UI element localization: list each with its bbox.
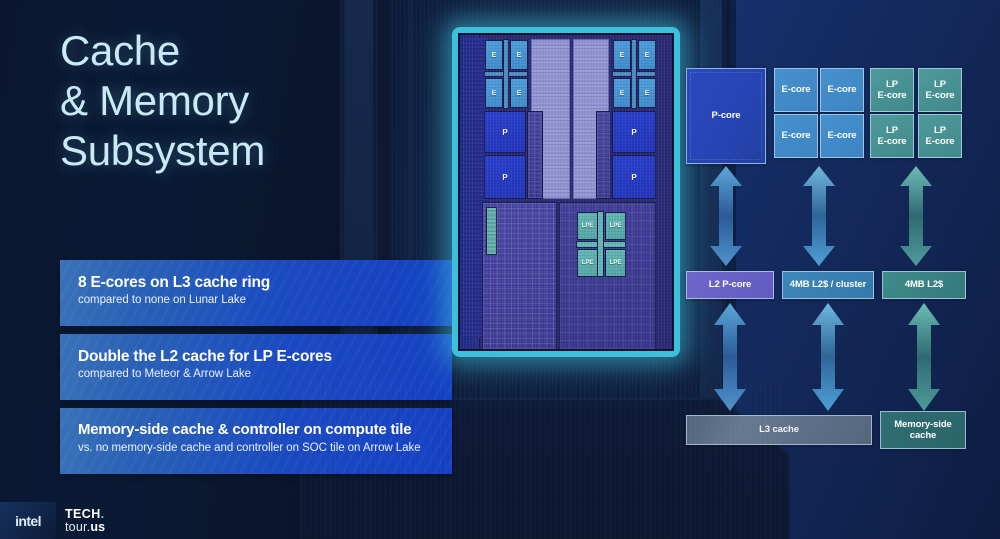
die-e-label: E <box>492 52 497 59</box>
block-lp-e-core-label-2: E-core <box>926 90 955 101</box>
double-headed-arrow-l2-lp-memory-side <box>906 303 942 411</box>
die-e-core[interactable]: E <box>638 40 656 70</box>
block-l2-lp-e-core-label: 4MB L2$ <box>905 279 943 290</box>
die-shot-image: E E E E E E E E P P P P LPE LPE LPE LPE <box>458 33 674 351</box>
block-lp-e-core-label-2: E-core <box>878 90 907 101</box>
double-headed-arrow-p-core-l2 <box>708 166 744 266</box>
block-l2-p-core-label: L2 P-core <box>709 279 751 290</box>
block-e-core-label: E-core <box>782 130 811 141</box>
die-e-core[interactable]: E <box>485 78 503 108</box>
block-lp-e-core-label-1: LP <box>934 125 946 136</box>
die-e-core[interactable]: E <box>638 78 656 108</box>
die-e-label: E <box>645 52 650 59</box>
die-lpe-label: LPE <box>610 223 622 229</box>
block-lp-e-core[interactable]: LP E-core <box>918 68 962 112</box>
double-headed-arrow-e-core-l2 <box>801 166 837 266</box>
brand-logo: intel TECH. tour.us <box>0 502 120 539</box>
title-line-2: & Memory <box>60 76 390 126</box>
die-lpe-label: LPE <box>582 260 594 266</box>
die-p-label: P <box>631 173 636 182</box>
block-e-core[interactable]: E-core <box>820 114 864 158</box>
block-lp-e-core-label-1: LP <box>886 125 898 136</box>
bullet-sub-2: compared to Meteor & Arrow Lake <box>78 368 452 380</box>
tour-text: tour. <box>65 520 90 534</box>
die-e-core[interactable]: E <box>613 40 631 70</box>
intel-logo-text: intel <box>15 513 41 529</box>
intel-logo: intel <box>0 502 56 539</box>
die-p-label: P <box>631 128 636 137</box>
block-lp-e-core[interactable]: LP E-core <box>870 114 914 158</box>
die-lpe-crossbar-v <box>597 211 604 277</box>
die-lpe-core[interactable]: LPE <box>577 212 598 240</box>
die-lpe-core[interactable]: LPE <box>605 212 626 240</box>
die-p-label: P <box>502 173 507 182</box>
block-l2-p-core[interactable]: L2 P-core <box>686 271 774 299</box>
chip-package-texture <box>305 380 785 539</box>
block-lp-e-core-label-1: LP <box>934 79 946 90</box>
block-memory-side-cache-label-2: cache <box>910 430 936 441</box>
block-e-core-label: E-core <box>828 84 857 95</box>
die-e-label: E <box>517 90 522 97</box>
block-p-core-label: P-core <box>712 110 741 121</box>
block-p-core[interactable]: P-core <box>686 68 766 164</box>
die-p-core[interactable]: P <box>484 155 526 199</box>
die-e-core[interactable]: E <box>510 78 528 108</box>
tech-tour-logo: TECH. tour.us <box>65 508 105 533</box>
die-p-l2-right <box>596 111 611 199</box>
block-lp-e-core-label-2: E-core <box>878 136 907 147</box>
block-lp-e-core-label-2: E-core <box>926 136 955 147</box>
block-e-core[interactable]: E-core <box>820 68 864 112</box>
bullet-sub-1: compared to none on Lunar Lake <box>78 294 452 306</box>
block-memory-side-cache-label-1: Memory-side <box>894 419 952 430</box>
die-lpe-core[interactable]: LPE <box>605 249 626 277</box>
bullet-headline-2: Double the L2 cache for LP E-cores <box>78 347 452 366</box>
die-lpe-label: LPE <box>610 260 622 266</box>
block-l2-lp-e-core[interactable]: 4MB L2$ <box>882 271 966 299</box>
die-p-l2-left <box>527 111 543 199</box>
block-lp-e-core[interactable]: LP E-core <box>918 114 962 158</box>
die-e-label: E <box>620 90 625 97</box>
block-l2-e-core-cluster-label: 4MB L2$ / cluster <box>790 279 866 290</box>
die-left-io-bar <box>460 35 480 349</box>
page-title: Cache & Memory Subsystem <box>60 26 390 176</box>
die-p-core[interactable]: P <box>612 155 656 199</box>
block-e-core-label: E-core <box>828 130 857 141</box>
die-sram-column <box>486 207 497 255</box>
die-e-label: E <box>620 52 625 59</box>
die-e-core[interactable]: E <box>485 40 503 70</box>
die-e-core[interactable]: E <box>510 40 528 70</box>
die-e-label: E <box>517 52 522 59</box>
die-lpe-label: LPE <box>582 223 594 229</box>
die-e-crossbar-right-v <box>631 39 637 109</box>
us-text: us <box>90 520 105 534</box>
die-p-label: P <box>502 128 507 137</box>
bullet-card-1: 8 E-cores on L3 cache ring compared to n… <box>60 260 452 326</box>
die-e-label: E <box>645 90 650 97</box>
block-lp-e-core-label-1: LP <box>886 79 898 90</box>
die-e-core[interactable]: E <box>613 78 631 108</box>
double-headed-arrow-lp-e-core-l2 <box>898 166 934 266</box>
tech-tour-line-2: tour.us <box>65 521 105 534</box>
block-e-core[interactable]: E-core <box>774 114 818 158</box>
double-headed-arrow-l2-e-l3 <box>810 303 846 411</box>
title-line-3: Subsystem <box>60 126 390 176</box>
die-e-crossbar-left-v <box>503 39 509 109</box>
slide-root: Cache & Memory Subsystem 8 E-cores on L3… <box>0 0 1000 539</box>
die-lpe-core[interactable]: LPE <box>577 249 598 277</box>
bullet-headline-1: 8 E-cores on L3 cache ring <box>78 273 452 292</box>
die-p-core[interactable]: P <box>484 111 526 153</box>
die-p-core[interactable]: P <box>612 111 656 153</box>
block-lp-e-core[interactable]: LP E-core <box>870 68 914 112</box>
block-memory-side-cache[interactable]: Memory-side cache <box>880 411 966 449</box>
title-line-1: Cache <box>60 26 390 76</box>
block-l2-e-core-cluster[interactable]: 4MB L2$ / cluster <box>782 271 874 299</box>
die-e-label: E <box>492 90 497 97</box>
block-e-core[interactable]: E-core <box>774 68 818 112</box>
block-e-core-label: E-core <box>782 84 811 95</box>
